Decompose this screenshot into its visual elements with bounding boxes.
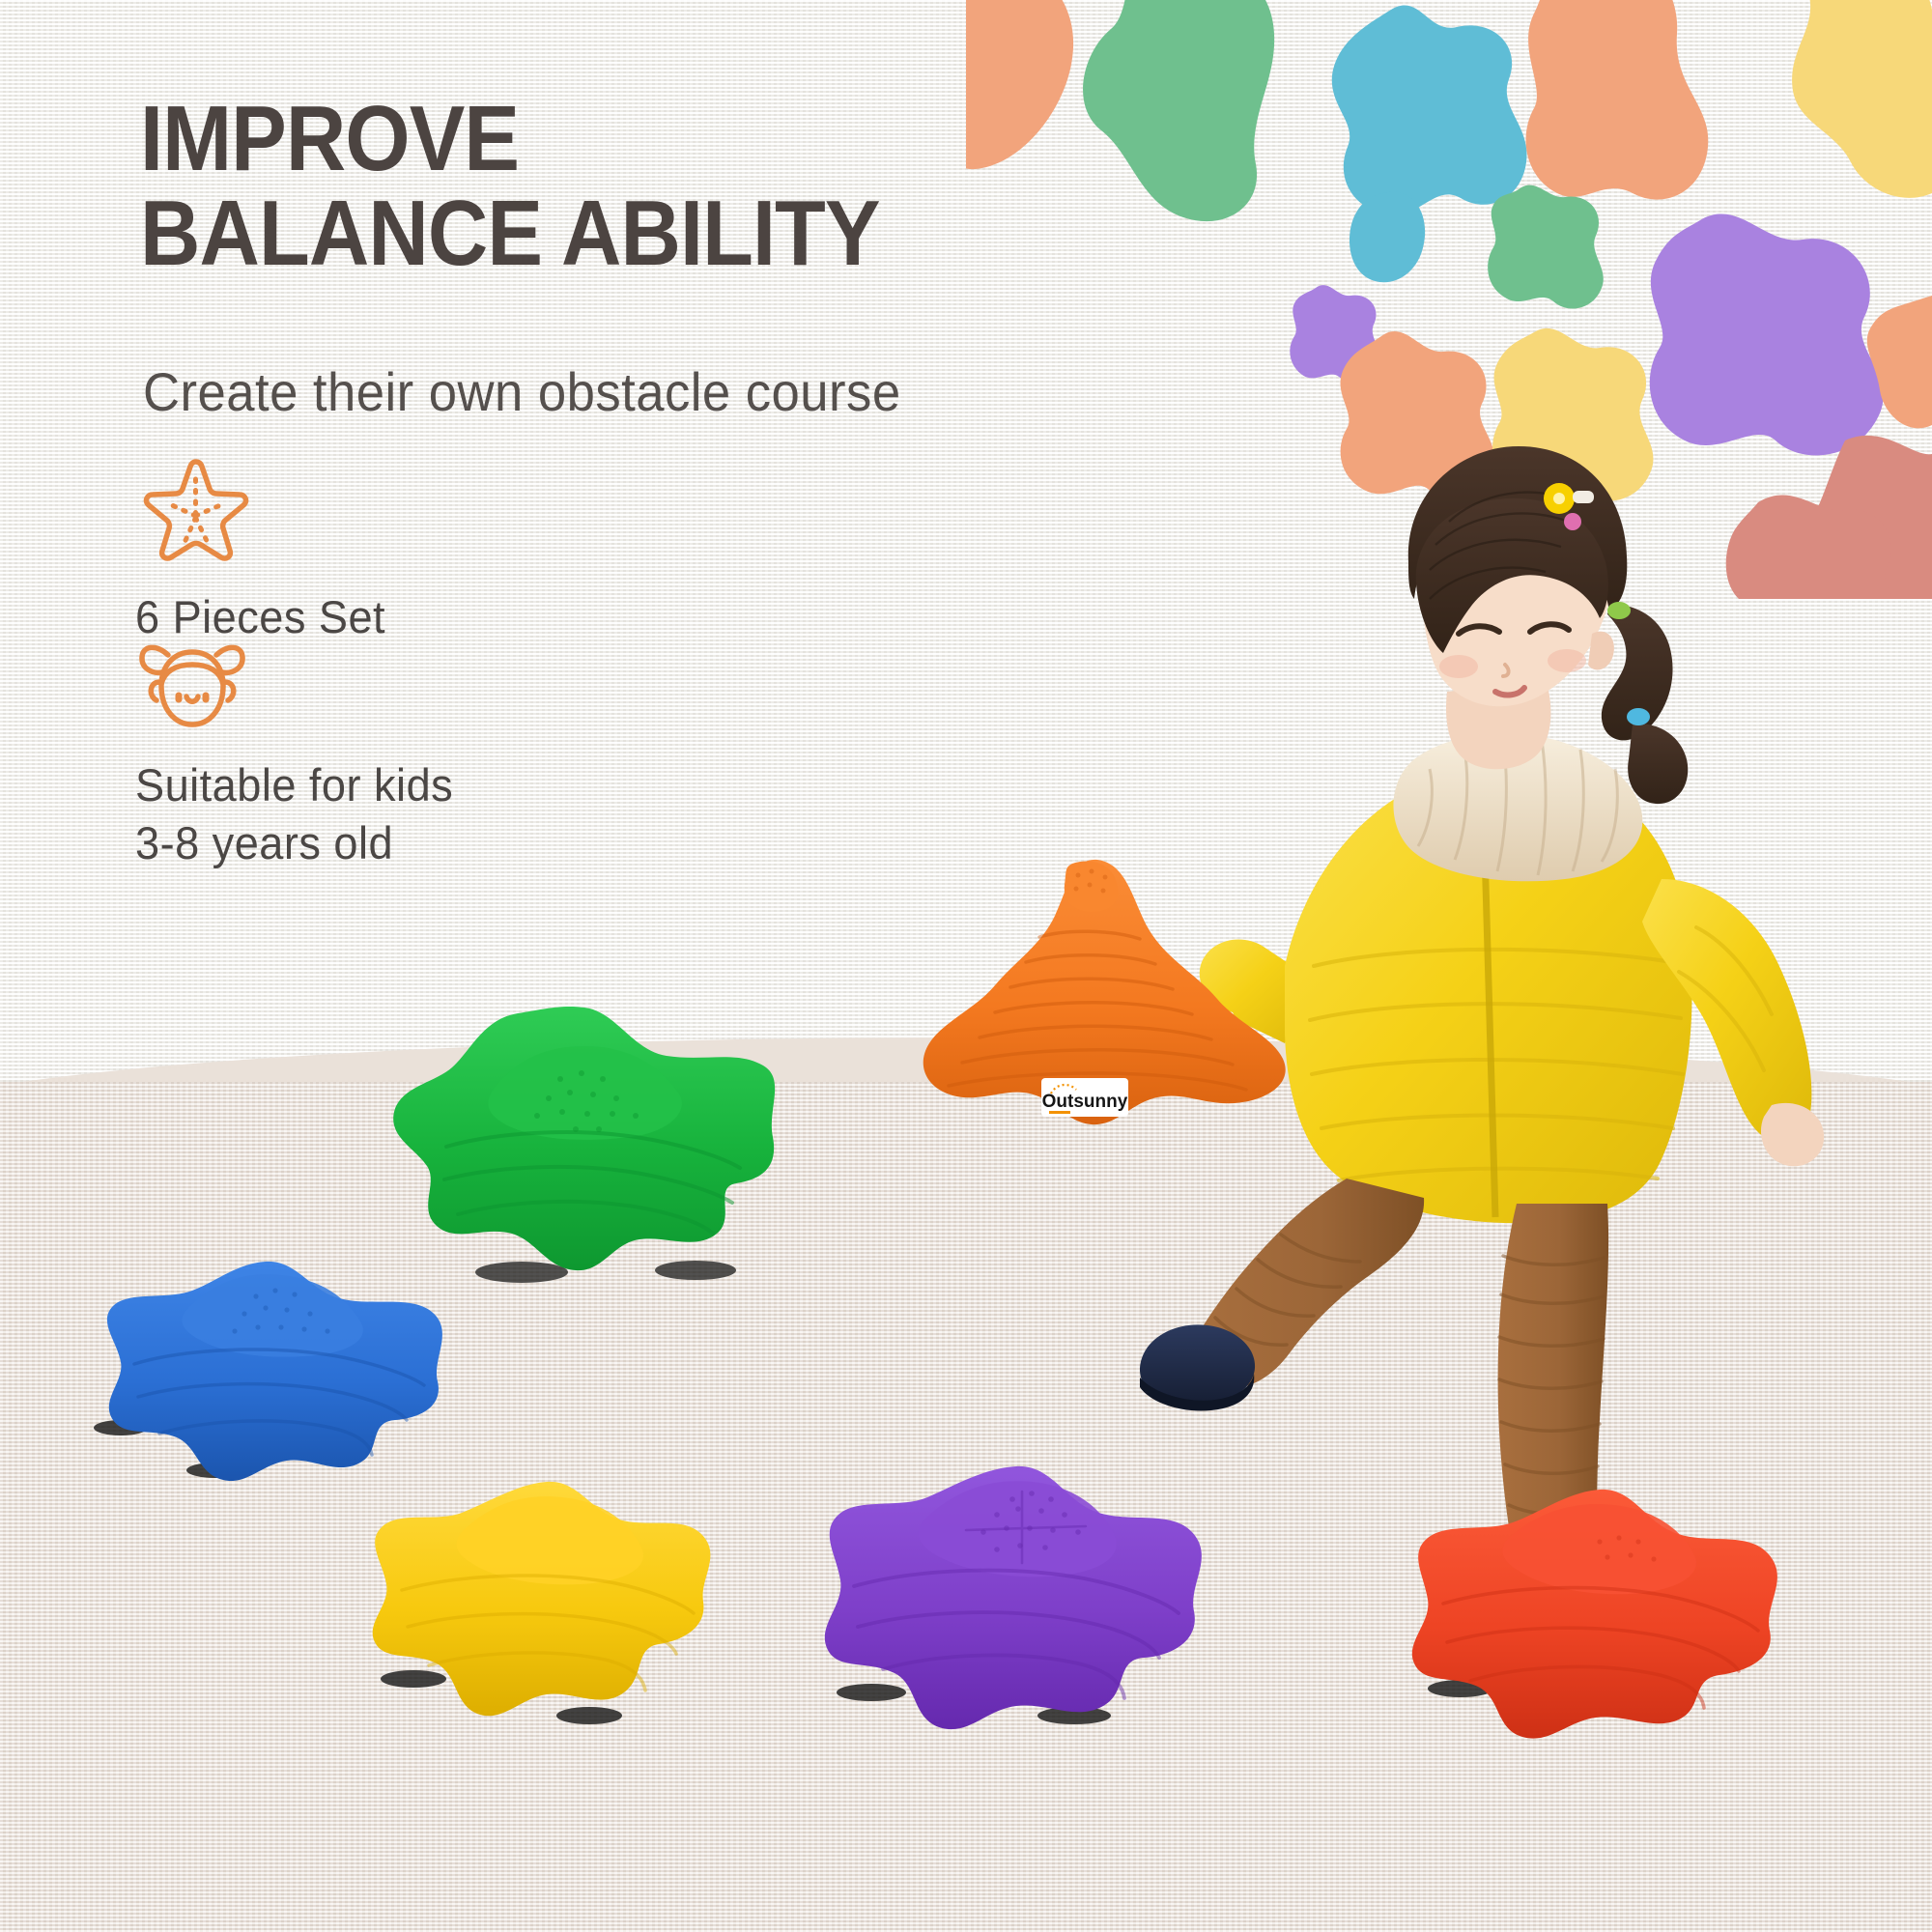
yellow-stepping-stone[interactable] (357, 1468, 734, 1739)
purple-stepping-stone[interactable] (811, 1449, 1236, 1748)
product-marketing-poster: IMPROVE BALANCE ABILITY Create their own… (0, 0, 1932, 1932)
red-stepping-stone[interactable] (1401, 1478, 1806, 1758)
headline-line-2: BALANCE ABILITY (140, 186, 1009, 281)
page-title: IMPROVE BALANCE ABILITY (140, 92, 1009, 281)
orange-stepping-stone[interactable]: Outsunny (898, 850, 1304, 1159)
headline-line-1: IMPROVE (140, 87, 519, 190)
feature-age-range: Suitable for kids 3-8 years old (135, 636, 467, 872)
feature-pieces-set: 6 Pieces Set (135, 454, 396, 646)
starfish-outline-icon (135, 454, 396, 575)
subtitle: Create their own obstacle course (143, 360, 901, 423)
girl-face-icon (135, 636, 467, 743)
blue-stepping-stone[interactable] (92, 1246, 478, 1497)
feature-age-range-label: Suitable for kids 3-8 years old (135, 756, 453, 872)
brand-label: Outsunny (1041, 1078, 1128, 1117)
svg-text:Outsunny: Outsunny (1042, 1092, 1128, 1112)
